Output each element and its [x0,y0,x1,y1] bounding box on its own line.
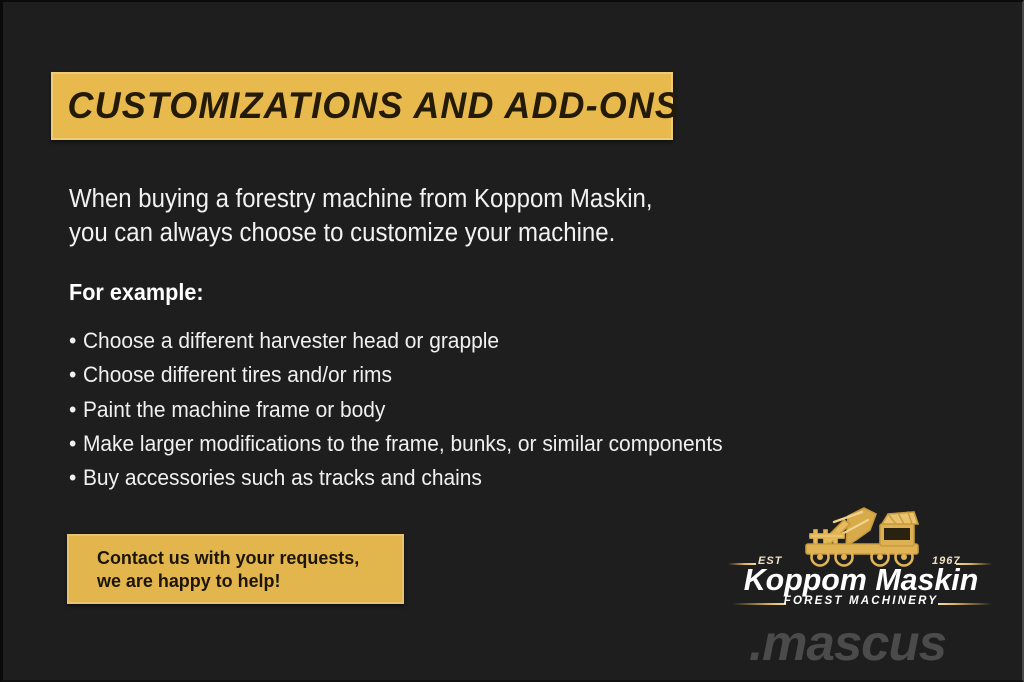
logo-tagline: FOREST MACHINERY [726,595,996,607]
list-item: •Choose a different harvester head or gr… [69,324,776,358]
intro-line-2: you can always choose to customize your … [69,216,746,250]
bullet-marker-icon: • [69,427,83,461]
bullet-marker-icon: • [69,324,83,358]
cta-line-2: we are happy to help! [97,569,393,592]
bullet-marker-icon: • [69,461,83,495]
title-banner: CUSTOMIZATIONS AND ADD-ONS [51,72,673,140]
list-item-label: Choose a different harvester head or gra… [83,328,499,353]
example-heading: For example: [69,279,204,306]
bullet-marker-icon: • [69,358,83,392]
list-item-label: Make larger modifications to the frame, … [83,431,723,456]
koppom-maskin-logo: EST 1967 Koppom Maskin FOREST MACHINERY [726,500,996,615]
customization-list: •Choose a different harvester head or gr… [69,324,829,495]
contact-cta-box[interactable]: Contact us with your requests, we are ha… [67,534,404,604]
page-title: CUSTOMIZATIONS AND ADD-ONS [53,85,680,127]
logo-tagline-row: FOREST MACHINERY [726,595,996,611]
list-item: •Choose different tires and/or rims [69,358,776,392]
logo-wordmark: Koppom Maskin [729,562,994,598]
list-item: •Buy accessories such as tracks and chai… [69,461,776,495]
list-item: •Make larger modifications to the frame,… [69,427,776,461]
list-item-label: Paint the machine frame or body [83,397,385,422]
promo-slide: CUSTOMIZATIONS AND ADD-ONS When buying a… [0,0,1024,682]
intro-line-1: When buying a forestry machine from Kopp… [69,182,746,216]
mascus-watermark: .mascus [749,614,946,672]
list-item-label: Choose different tires and/or rims [83,362,392,387]
list-item: •Paint the machine frame or body [69,393,776,427]
tagline-rule-right [938,603,992,605]
intro-paragraph: When buying a forestry machine from Kopp… [69,182,746,250]
cta-line-1: Contact us with your requests, [97,546,393,569]
bullet-marker-icon: • [69,393,83,427]
list-item-label: Buy accessories such as tracks and chain… [83,465,482,490]
